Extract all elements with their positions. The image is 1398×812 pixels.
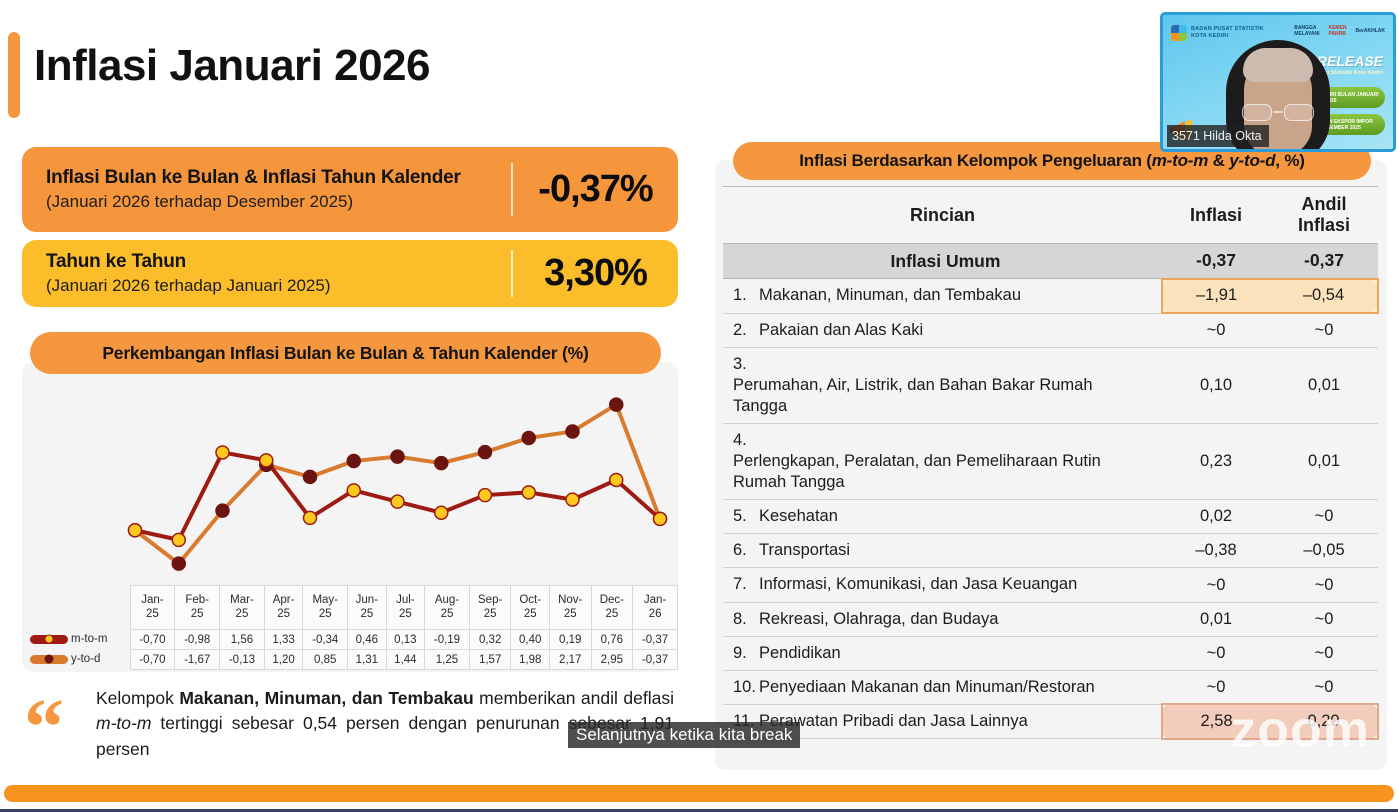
table-row: 8.Rekreasi, Olahraga, dan Budaya0,01~0	[723, 602, 1378, 636]
row-andil-value: –0,05	[1270, 534, 1378, 568]
legend-label: m-to-m	[71, 633, 107, 645]
inflation-line-chart	[22, 380, 678, 585]
chart-table-cell: 1,25	[425, 650, 470, 670]
page-title: Inflasi Januari 2026	[34, 41, 430, 91]
row-label: Informasi, Komunikasi, dan Jasa Keuangan	[759, 574, 1077, 595]
chart-table-cell: 0,85	[303, 650, 348, 670]
row-label-cell: 5.Kesehatan	[723, 500, 1162, 534]
chart-table-head: Jan-25Feb-25Mar-25Apr-25May-25Jun-25Jul-…	[22, 586, 678, 630]
table-row: 11.Perawatan Pribadi dan Jasa Lainnya2,5…	[723, 704, 1378, 738]
row-index: 5.	[733, 506, 759, 527]
table-row-inflasi-umum: Inflasi Umum-0,37-0,37	[723, 244, 1378, 279]
row-inflasi-value: 0,23	[1162, 423, 1270, 499]
chart-table-col-header: Aug-25	[425, 586, 470, 630]
chart-table-col-header: May-25	[303, 586, 348, 630]
row-label-cell: 10.Penyediaan Makanan dan Minuman/Restor…	[723, 670, 1162, 704]
legend-marker-icon	[45, 635, 54, 644]
col-header-andil-inflasi: Andil Inflasi	[1270, 187, 1378, 244]
legend-swatch-icon	[30, 635, 68, 644]
chart-table-body: m-to-m-0,70-0,981,561,33-0,340,460,13-0,…	[22, 630, 678, 670]
row-inflasi-value: 0,02	[1162, 500, 1270, 534]
expenditure-table-body: Inflasi Umum-0,37-0,371.Makanan, Minuman…	[723, 244, 1378, 739]
col-header-inflasi: Inflasi	[1162, 187, 1270, 244]
expenditure-table-head: Rincian Inflasi Andil Inflasi	[723, 187, 1378, 244]
row-andil-value: 0,01	[1270, 347, 1378, 423]
chart-point-m-to-m	[435, 506, 448, 519]
row-index: 10.	[733, 677, 759, 698]
glasses-icon	[1242, 104, 1314, 121]
bps-logo-text: BADAN PUSAT STATISTIKKOTA KEDIRI	[1191, 26, 1264, 40]
chart-table-cell: 1,20	[264, 650, 302, 670]
row-inflasi-value: 2,58	[1162, 704, 1270, 738]
row-label-cell: 3.Perumahan, Air, Listrik, dan Bahan Bak…	[723, 347, 1162, 423]
chart-table-cell: 2,95	[591, 650, 633, 670]
row-label: Transportasi	[759, 540, 850, 561]
chart-table-cell: -0,19	[425, 630, 470, 650]
chart-table-header-row: Jan-25Feb-25Mar-25Apr-25May-25Jun-25Jul-…	[22, 586, 678, 630]
quote-mark-icon: “	[24, 700, 64, 756]
table-row: 1.Makanan, Minuman, dan Tembakau–1,91–0,…	[723, 279, 1378, 313]
kpi-mtm-heading: Inflasi Bulan ke Bulan & Inflasi Tahun K…	[46, 166, 501, 190]
chart-title-pill: Perkembangan Inflasi Bulan ke Bulan & Ta…	[30, 332, 661, 374]
chart-point-m-to-m	[304, 511, 317, 524]
chart-table-cell: 2,17	[549, 650, 591, 670]
chart-point-y-to-d	[391, 450, 404, 463]
chart-data-table: Jan-25Feb-25Mar-25Apr-25May-25Jun-25Jul-…	[22, 585, 678, 670]
row-index: 8.	[733, 609, 759, 630]
summary-cell-label: Inflasi Umum	[723, 244, 1162, 279]
row-andil-value: ~0	[1270, 313, 1378, 347]
row-inflasi-value: ~0	[1162, 670, 1270, 704]
row-label: Perumahan, Air, Listrik, dan Bahan Bakar…	[733, 375, 1133, 417]
chart-point-m-to-m	[172, 533, 185, 546]
chart-table-cell: 1,98	[511, 650, 549, 670]
row-label: Perlengkapan, Peralatan, dan Pemeliharaa…	[733, 451, 1133, 493]
row-label: Pendidikan	[759, 643, 841, 664]
chart-table-col-header: Mar-25	[220, 586, 265, 630]
chart-table-col-header: Jul-25	[386, 586, 424, 630]
chart-table-cell: 0,46	[348, 630, 386, 650]
chart-legend-item-m-to-m: m-to-m	[22, 630, 130, 650]
chart-table-cell: -0,98	[175, 630, 220, 650]
chart-table-col-header: Jan-26	[633, 586, 678, 630]
title-accent-bar	[8, 32, 20, 118]
legend-label: y-to-d	[71, 653, 100, 665]
kpi-yoy-heading: Tahun ke Tahun	[46, 250, 501, 274]
expenditure-group-table: Rincian Inflasi Andil Inflasi Inflasi Um…	[723, 186, 1379, 740]
row-label: Makanan, Minuman, dan Tembakau	[759, 285, 1021, 306]
row-index: 4.	[733, 430, 759, 451]
table-row: 6.Transportasi–0,38–0,05	[723, 534, 1378, 568]
chart-table-cell: -0,13	[220, 650, 265, 670]
row-index: 9.	[733, 643, 759, 664]
brand-logo-2: KEMENPANRB	[1328, 25, 1346, 37]
chart-table-col-header: Sep-25	[469, 586, 511, 630]
chart-point-m-to-m	[566, 493, 579, 506]
kpi-yoy-subheading: (Januari 2026 terhadap Januari 2025)	[46, 275, 501, 297]
row-label: Rekreasi, Olahraga, dan Budaya	[759, 609, 998, 630]
row-index: 7.	[733, 574, 759, 595]
bps-logo: BADAN PUSAT STATISTIKKOTA KEDIRI	[1171, 25, 1264, 41]
chart-table-col-header: Jun-25	[348, 586, 386, 630]
chart-point-y-to-d	[172, 557, 185, 570]
kpi-card-month-to-month: Inflasi Bulan ke Bulan & Inflasi Tahun K…	[22, 147, 678, 232]
chart-table-cell: -0,34	[303, 630, 348, 650]
kpi-yoy-text: Tahun ke Tahun (Januari 2026 terhadap Ja…	[22, 250, 511, 298]
table-row: 2.Pakaian dan Alas Kaki~0~0	[723, 313, 1378, 347]
chart-point-m-to-m	[391, 495, 404, 508]
chart-point-m-to-m	[654, 512, 667, 525]
chart-table-cell: -1,67	[175, 650, 220, 670]
row-andil-value: ~0	[1270, 636, 1378, 670]
row-label-cell: 2.Pakaian dan Alas Kaki	[723, 313, 1162, 347]
chart-table-row: m-to-m-0,70-0,981,561,33-0,340,460,13-0,…	[22, 630, 678, 650]
chart-table-legend-spacer	[22, 586, 130, 630]
participant-name-badge: 3571 Hilda Okta	[1167, 125, 1269, 147]
col-header-rincian: Rincian	[723, 187, 1162, 244]
row-index: 2.	[733, 320, 759, 341]
chart-table-cell: 0,13	[386, 630, 424, 650]
row-label: Kesehatan	[759, 506, 838, 527]
footer-accent-bar	[4, 785, 1394, 802]
legend-marker-icon	[45, 655, 54, 664]
row-index: 1.	[733, 285, 759, 306]
chart-table-col-header: Nov-25	[549, 586, 591, 630]
glasses-right-lens	[1284, 104, 1314, 121]
chart-point-y-to-d	[566, 425, 579, 438]
row-andil-value: ~0	[1270, 602, 1378, 636]
chart-table-col-header: Dec-25	[591, 586, 633, 630]
chart-point-m-to-m	[347, 484, 360, 497]
expenditure-table-header-row: Rincian Inflasi Andil Inflasi	[723, 187, 1378, 244]
caption-text: Selanjutnya ketika kita break	[576, 725, 792, 744]
chart-point-y-to-d	[479, 446, 492, 459]
chart-table-cell: 1,33	[264, 630, 302, 650]
chart-point-m-to-m	[129, 524, 142, 537]
brand-logo-1: BANGGAMELAYANI	[1294, 25, 1319, 37]
bps-logo-mark	[1171, 25, 1187, 41]
row-label-cell: 6.Transportasi	[723, 534, 1162, 568]
row-inflasi-value: –0,38	[1162, 534, 1270, 568]
chart-table-row: y-to-d-0,70-1,67-0,131,200,851,311,441,2…	[22, 650, 678, 670]
chart-table-cell: 0,19	[549, 630, 591, 650]
chart-table-cell: 1,31	[348, 650, 386, 670]
chart-table-cell: -0,70	[130, 650, 175, 670]
chart-point-m-to-m	[610, 473, 623, 486]
table-row: 3.Perumahan, Air, Listrik, dan Bahan Bak…	[723, 347, 1378, 423]
chart-line-y-to-d	[135, 405, 660, 564]
chart-title-text: Perkembangan Inflasi Bulan ke Bulan & Ta…	[102, 343, 588, 364]
chart-table-cell: 0,76	[591, 630, 633, 650]
chart-table-cell: -0,70	[130, 630, 175, 650]
chart-point-y-to-d	[522, 431, 535, 444]
row-inflasi-value: 0,01	[1162, 602, 1270, 636]
row-label-cell: 7.Informasi, Komunikasi, dan Jasa Keuang…	[723, 568, 1162, 602]
chart-point-y-to-d	[347, 455, 360, 468]
summary-cell-inflasi: -0,37	[1162, 244, 1270, 279]
presentation-slide: Inflasi Januari 2026 Inflasi Bulan ke Bu…	[0, 0, 1398, 812]
row-andil-value: 0,01	[1270, 423, 1378, 499]
chart-point-m-to-m	[479, 489, 492, 502]
legend-swatch-icon	[30, 655, 68, 664]
row-label: Penyediaan Makanan dan Minuman/Restoran	[759, 677, 1095, 698]
row-index: 3.	[733, 354, 759, 375]
chart-point-m-to-m	[522, 486, 535, 499]
chart-table-cell: -0,37	[633, 650, 678, 670]
row-index: 6.	[733, 540, 759, 561]
table-row: 9.Pendidikan~0~0	[723, 636, 1378, 670]
row-inflasi-value: ~0	[1162, 313, 1270, 347]
row-andil-value: ~0	[1270, 670, 1378, 704]
row-andil-value: –0,54	[1270, 279, 1378, 313]
glasses-bridge	[1273, 111, 1283, 113]
row-label-cell: 9.Pendidikan	[723, 636, 1162, 670]
summary-cell-andil: -0,37	[1270, 244, 1378, 279]
table-row: 10.Penyediaan Makanan dan Minuman/Restor…	[723, 670, 1378, 704]
row-andil-value: 0,20	[1270, 704, 1378, 738]
expenditure-table-title-text: Inflasi Berdasarkan Kelompok Pengeluaran…	[799, 151, 1304, 171]
video-participant-tile[interactable]: BADAN PUSAT STATISTIKKOTA KEDIRI BANGGAM…	[1160, 12, 1396, 152]
row-andil-value: ~0	[1270, 568, 1378, 602]
kpi-yoy-value: 3,30%	[513, 252, 678, 295]
chart-point-y-to-d	[610, 398, 623, 411]
participant-hijab	[1243, 48, 1313, 82]
brand-logo-3: BerAKHLAK	[1356, 28, 1385, 34]
chart-table-col-header: Jan-25	[130, 586, 175, 630]
chart-table-cell: 1,57	[469, 650, 511, 670]
table-row: 4.Perlengkapan, Peralatan, dan Pemelihar…	[723, 423, 1378, 499]
chart-point-m-to-m	[260, 454, 273, 467]
chart-table-cell: 0,40	[511, 630, 549, 650]
row-andil-value: ~0	[1270, 500, 1378, 534]
chart-table-cell: 1,44	[386, 650, 424, 670]
row-label-cell: 8.Rekreasi, Olahraga, dan Budaya	[723, 602, 1162, 636]
chart-point-y-to-d	[304, 470, 317, 483]
chart-point-y-to-d	[216, 504, 229, 517]
participant-name-text: 3571 Hilda Okta	[1172, 129, 1262, 143]
chart-table-cell: 1,56	[220, 630, 265, 650]
table-row: 5.Kesehatan0,02~0	[723, 500, 1378, 534]
row-label-cell: 1.Makanan, Minuman, dan Tembakau	[723, 279, 1162, 313]
caption-overlay: Selanjutnya ketika kita break	[568, 722, 800, 748]
kpi-card-year-on-year: Tahun ke Tahun (Januari 2026 terhadap Ja…	[22, 240, 678, 307]
table-row: 7.Informasi, Komunikasi, dan Jasa Keuang…	[723, 568, 1378, 602]
row-inflasi-value: 0,10	[1162, 347, 1270, 423]
chart-table-cell: -0,37	[633, 630, 678, 650]
chart-table-cell: 0,32	[469, 630, 511, 650]
chart-table-col-header: Feb-25	[175, 586, 220, 630]
chart-legend-item-y-to-d: y-to-d	[22, 650, 130, 670]
brand-logo-row: BANGGAMELAYANI KEMENPANRB BerAKHLAK	[1294, 25, 1385, 37]
row-label: Pakaian dan Alas Kaki	[759, 320, 923, 341]
glasses-left-lens	[1242, 104, 1272, 121]
kpi-mtm-subheading: (Januari 2026 terhadap Desember 2025)	[46, 191, 501, 213]
chart-table-col-header: Oct-25	[511, 586, 549, 630]
chart-table-col-header: Apr-25	[264, 586, 302, 630]
row-inflasi-value: –1,91	[1162, 279, 1270, 313]
kpi-mtm-value: -0,37%	[513, 168, 678, 211]
chart-point-y-to-d	[435, 457, 448, 470]
kpi-mtm-text: Inflasi Bulan ke Bulan & Inflasi Tahun K…	[22, 166, 511, 214]
row-inflasi-value: ~0	[1162, 568, 1270, 602]
chart-point-m-to-m	[216, 446, 229, 459]
row-inflasi-value: ~0	[1162, 636, 1270, 670]
row-label-cell: 4.Perlengkapan, Peralatan, dan Pemelihar…	[723, 423, 1162, 499]
